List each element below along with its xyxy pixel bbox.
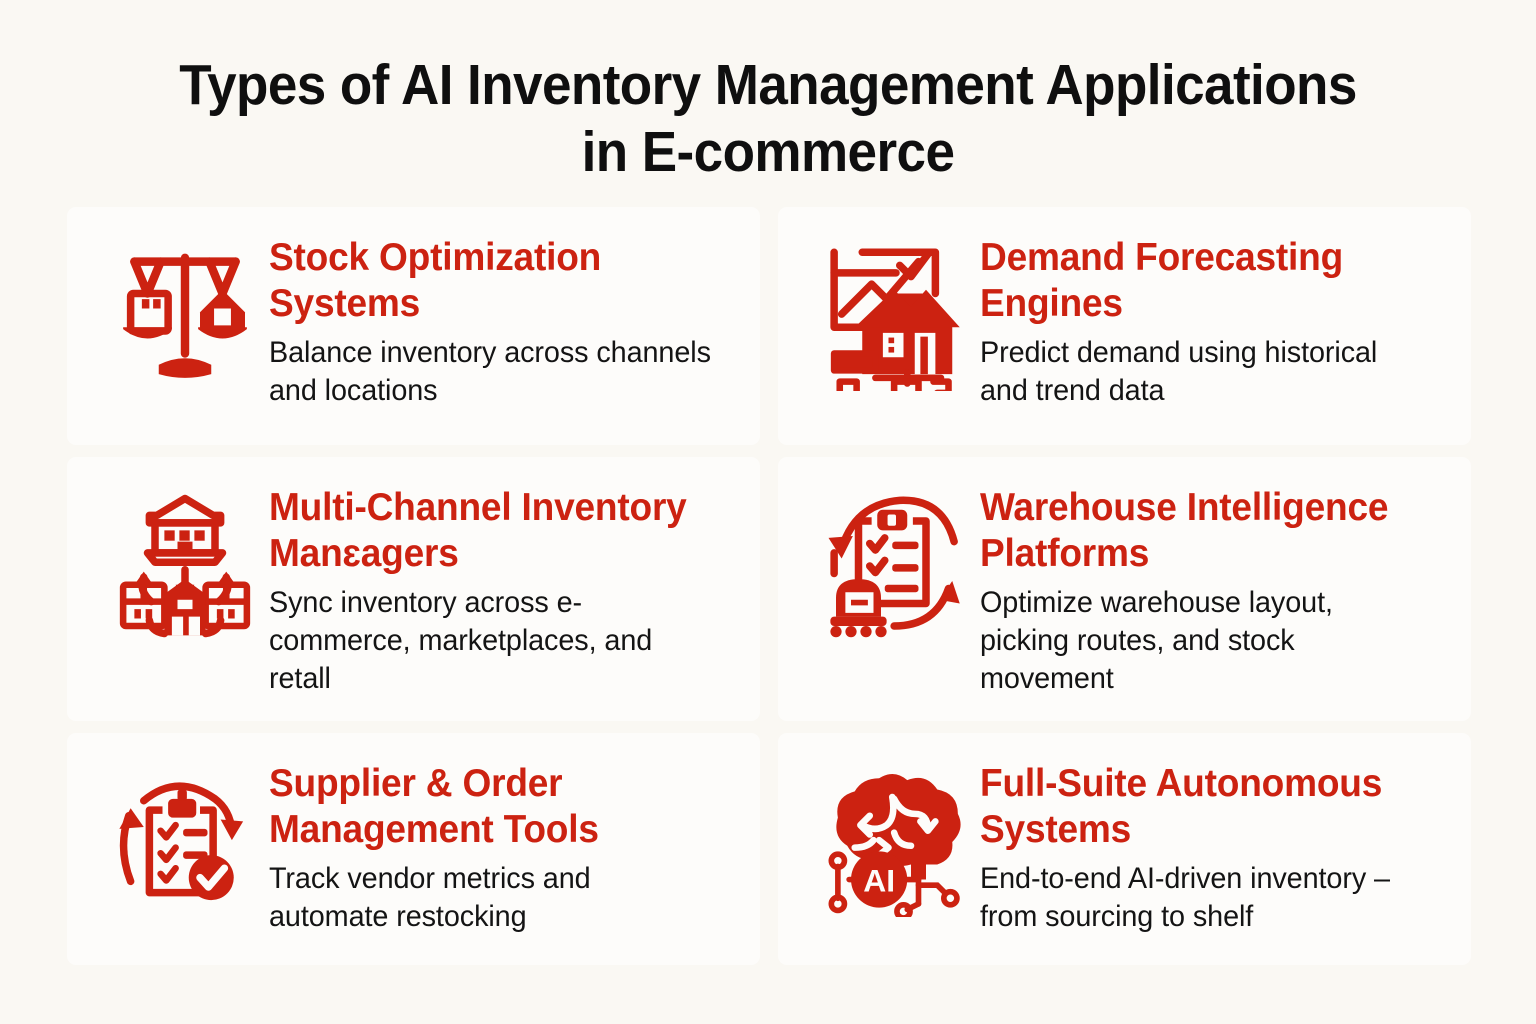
card-title: Demand Forecasting Engines [980,235,1424,327]
card-demand-forecasting-engines[interactable]: Demand Forecasting Engines Predict deman… [778,207,1471,445]
card-description: Balance inventory across channels and lo… [269,334,717,410]
card-text-block: Demand Forecasting Engines Predict deman… [980,233,1447,410]
card-description: Predict demand using historical and tren… [980,334,1428,410]
card-title: Stock Optimization Systems [269,235,713,327]
page-title-line-2: in E-commerce [582,120,955,184]
balance-scale-box-house-icon [101,233,269,401]
card-full-suite-autonomous-systems[interactable]: AI [778,733,1471,965]
page-title-line-1: Types of AI Inventory Management Applica… [179,53,1357,117]
clipboard-conveyor-cycle-icon [812,483,980,651]
card-description: Track vendor metrics and automate restoc… [269,860,717,936]
card-warehouse-intelligence-platforms[interactable]: Warehouse Intelligence Platforms Optimiz… [778,457,1471,721]
card-multi-channel-inventory-managers[interactable]: Multi-Channel Inventory Manɛagers Sync i… [67,457,760,721]
multi-channel-network-icon [101,483,269,651]
ai-brain-circuit-icon: AI [812,759,980,927]
card-title: Supplier & Order Management Tools [269,761,713,853]
card-title: Multi-Channel Inventory Manɛagers [269,485,713,577]
card-text-block: Warehouse Intelligence Platforms Optimiz… [980,483,1447,697]
card-text-block: Supplier & Order Management Tools Track … [269,759,736,936]
card-stock-optimization-systems[interactable]: Stock Optimization Systems Balance inven… [67,207,760,445]
card-supplier-order-management-tools[interactable]: Supplier & Order Management Tools Track … [67,733,760,965]
infographic-page: Types of AI Inventory Management Applica… [0,0,1536,1024]
page-title: Types of AI Inventory Management Applica… [54,0,1482,187]
card-text-block: Full-Suite Autonomous Systems End-to-end… [980,759,1447,936]
card-text-block: Multi-Channel Inventory Manɛagers Sync i… [269,483,736,697]
forecast-chart-house-icon [812,233,980,401]
card-text-block: Stock Optimization Systems Balance inven… [269,233,736,410]
card-description: End-to-end AI-driven inventory – from so… [980,860,1428,936]
card-description: Sync inventory across e-commerce, market… [269,584,717,697]
svg-text:AI: AI [863,863,895,899]
card-grid: Stock Optimization Systems Balance inven… [58,207,1478,977]
clipboard-checkmark-cycle-icon [101,759,269,927]
card-title: Warehouse Intelligence Platforms [980,485,1424,577]
card-description: Optimize warehouse layout, picking route… [980,584,1428,697]
card-title: Full-Suite Autonomous Systems [980,761,1424,853]
